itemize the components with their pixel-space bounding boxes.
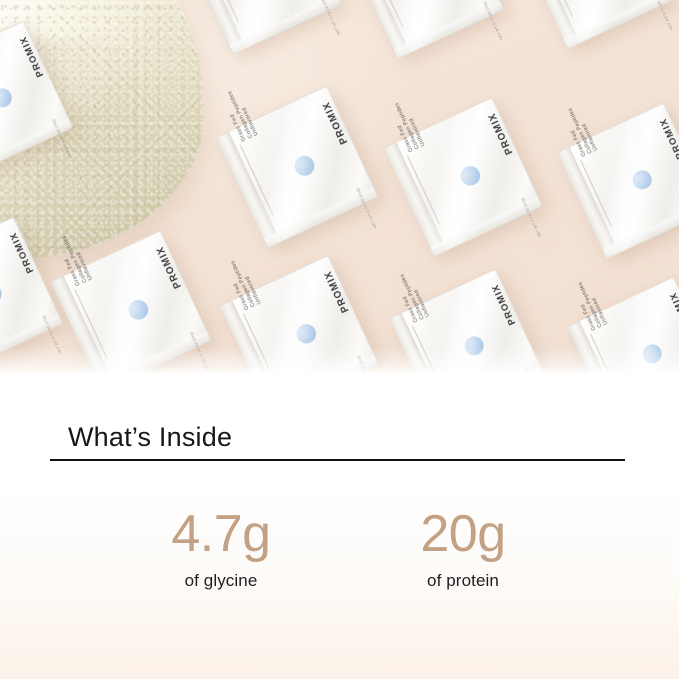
packet-blue-dot-icon (458, 163, 484, 189)
hero-photo: PROMIXGrass FedCollagen PeptidesUnflavor… (0, 0, 679, 373)
packet-blue-dot-icon (291, 153, 317, 179)
packet-blue-dot-icon (462, 334, 487, 359)
stat-glycine-label: of glycine (100, 571, 342, 591)
heading-divider (50, 459, 625, 461)
packet-blue-dot-icon (640, 342, 665, 367)
stat-protein-label: of protein (342, 571, 584, 591)
stat-protein-value: 20g (342, 508, 584, 560)
heading-block: What’s Inside (50, 422, 625, 461)
whats-inside-panel: What’s Inside 4.7g of glycine 20g of pro… (0, 373, 679, 679)
nutrition-stats: 4.7g of glycine 20g of protein (50, 508, 625, 591)
stat-protein: 20g of protein (342, 508, 584, 591)
stat-glycine-value: 4.7g (100, 508, 342, 560)
packet-blue-dot-icon (630, 168, 655, 193)
stat-glycine: 4.7g of glycine (100, 508, 342, 591)
packet-blue-dot-icon (294, 321, 320, 347)
packet-brand-logo: PROMIX (668, 290, 679, 335)
packet-blue-dot-icon (0, 86, 15, 111)
product-detail-image: PROMIXGrass FedCollagen PeptidesUnflavor… (0, 0, 679, 679)
packet-blue-dot-icon (125, 297, 151, 323)
page-title: What’s Inside (50, 422, 625, 452)
packet-blue-dot-icon (0, 282, 5, 307)
